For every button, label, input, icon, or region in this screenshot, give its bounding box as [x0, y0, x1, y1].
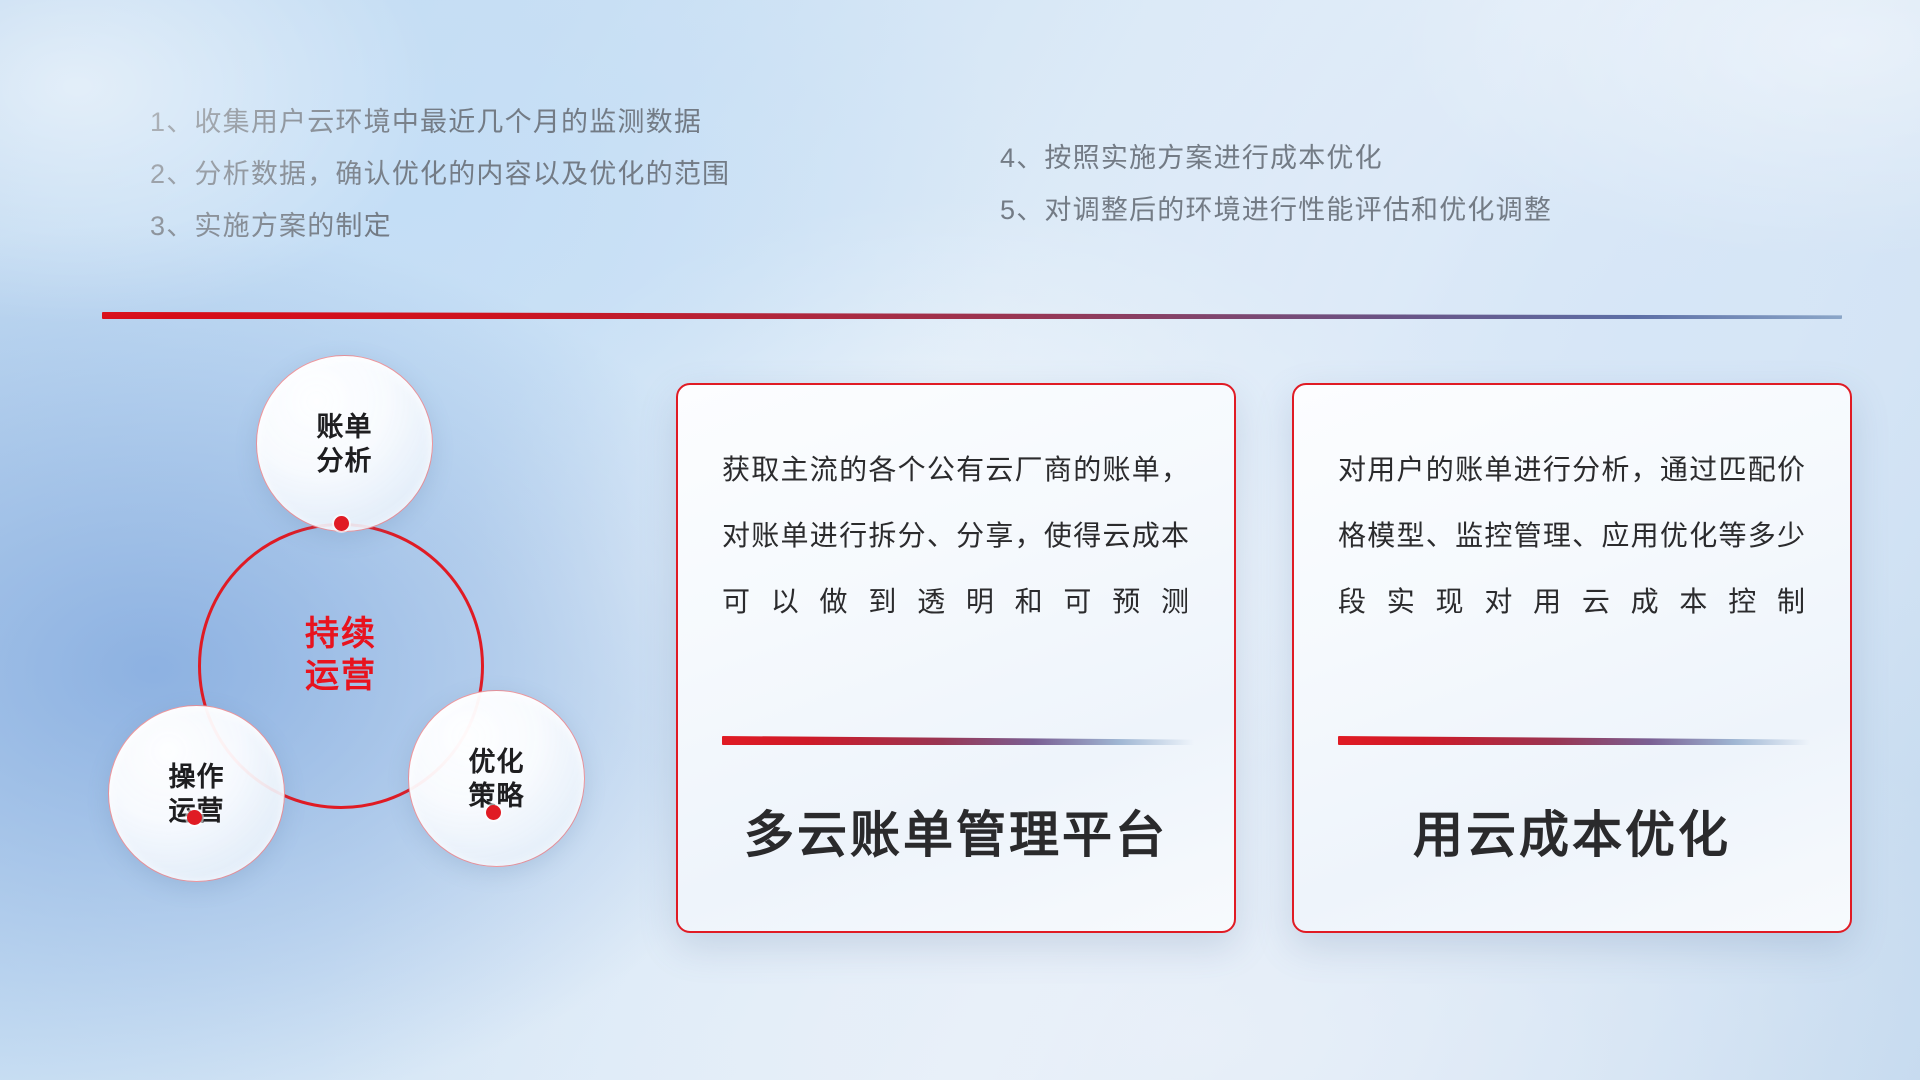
diagram-center-label: 持续 运营 [198, 613, 484, 697]
center-label-line-2: 运营 [198, 655, 484, 697]
slide-canvas: 1、收集用户云环境中最近几个月的监测数据 2、分析数据，确认优化的内容以及优化的… [0, 0, 1920, 1080]
step-item-2: 2、分析数据，确认优化的内容以及优化的范围 [150, 148, 730, 200]
bubble-label: 账单 分析 [317, 410, 373, 478]
bubble-label-line-1: 操作 [169, 760, 225, 794]
feature-cards: 获取主流的各个公有云厂商的账单，对账单进行拆分、分享，使得云成本可以做到透明和可… [676, 383, 1852, 933]
continuous-operations-diagram: 持续 运营 账单 分析 操作 运营 优化 策略 [90, 355, 630, 955]
bubble-label-line-1: 账单 [317, 410, 373, 444]
card-body-text: 对用户的账单进行分析，通过匹配价格模型、监控管理、应用优化等多少段实现对用云成本… [1338, 437, 1806, 647]
section-divider [102, 312, 1842, 319]
feature-card-cost-optimization[interactable]: 对用户的账单进行分析，通过匹配价格模型、监控管理、应用优化等多少段实现对用云成本… [1292, 383, 1852, 933]
card-body-text: 获取主流的各个公有云厂商的账单，对账单进行拆分、分享，使得云成本可以做到透明和可… [722, 437, 1190, 647]
step-item-4: 4、按照实施方案进行成本优化 [1000, 132, 1552, 184]
diagram-bubble-optimization-strategy[interactable]: 优化 策略 [408, 690, 585, 867]
card-accent-rule [1338, 736, 1810, 745]
node-dot-right-icon [486, 805, 501, 820]
steps-section: 1、收集用户云环境中最近几个月的监测数据 2、分析数据，确认优化的内容以及优化的… [0, 96, 1920, 286]
card-title: 多云账单管理平台 [678, 795, 1234, 867]
steps-right-column: 4、按照实施方案进行成本优化 5、对调整后的环境进行性能评估和优化调整 [1000, 132, 1552, 236]
card-title: 用云成本优化 [1294, 795, 1850, 867]
node-dot-left-icon [187, 810, 202, 825]
diagram-bubble-operations[interactable]: 操作 运营 [108, 705, 285, 882]
step-item-5: 5、对调整后的环境进行性能评估和优化调整 [1000, 184, 1552, 236]
step-item-1: 1、收集用户云环境中最近几个月的监测数据 [150, 96, 730, 148]
bubble-label-line-2: 分析 [317, 444, 373, 478]
steps-left-column: 1、收集用户云环境中最近几个月的监测数据 2、分析数据，确认优化的内容以及优化的… [150, 96, 730, 252]
center-label-line-1: 持续 [198, 613, 484, 655]
bubble-label-line-1: 优化 [469, 745, 525, 779]
diagram-bubble-billing-analysis[interactable]: 账单 分析 [256, 355, 433, 532]
bubble-label: 优化 策略 [469, 745, 525, 813]
feature-card-billing-platform[interactable]: 获取主流的各个公有云厂商的账单，对账单进行拆分、分享，使得云成本可以做到透明和可… [676, 383, 1236, 933]
node-dot-top-icon [334, 516, 349, 531]
step-item-3: 3、实施方案的制定 [150, 200, 730, 252]
card-accent-rule [722, 736, 1194, 745]
